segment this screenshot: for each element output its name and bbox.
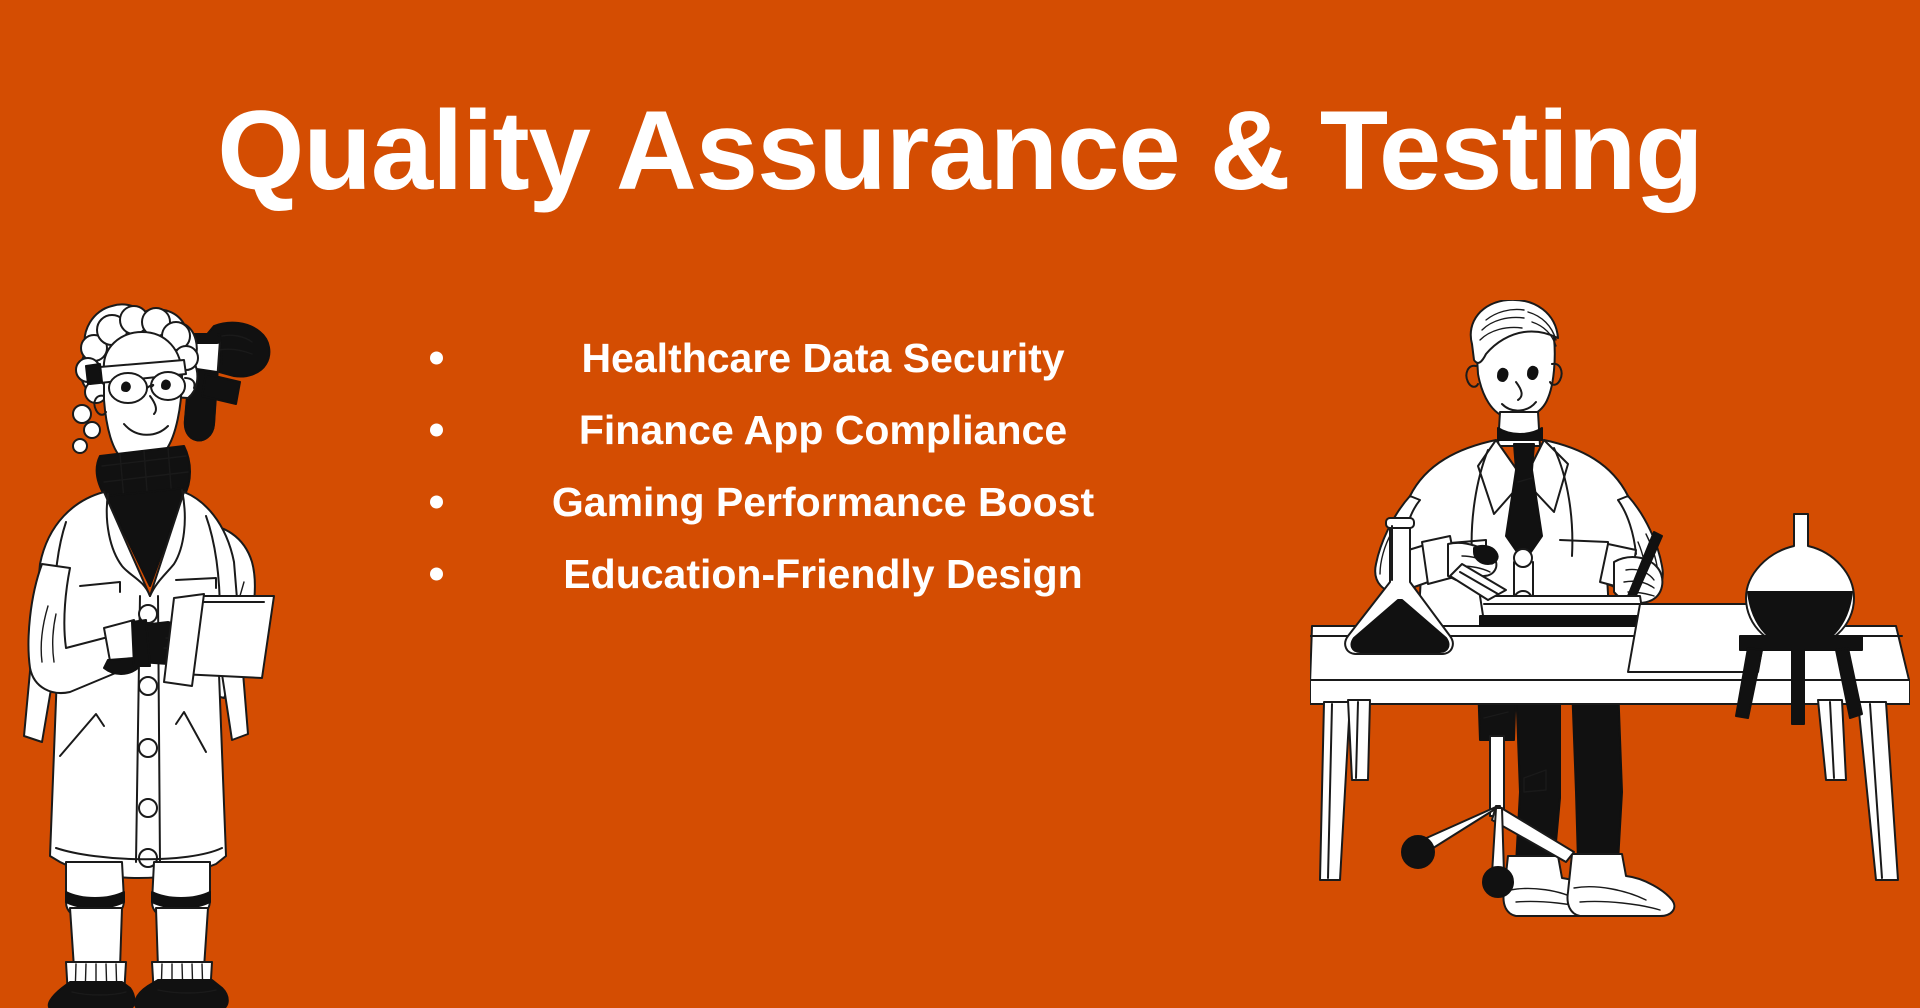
scientist-at-lab-desk-illustration xyxy=(1310,300,1910,1008)
list-item-label: Education-Friendly Design xyxy=(430,551,1190,598)
list-item-label: Gaming Performance Boost xyxy=(430,479,1190,526)
list-item: Healthcare Data Security xyxy=(430,322,1190,394)
page-title: Quality Assurance & Testing xyxy=(0,92,1920,210)
bullet-list: Healthcare Data Security Finance App Com… xyxy=(430,322,1190,610)
list-item-label: Healthcare Data Security xyxy=(430,335,1190,382)
list-item-label: Finance App Compliance xyxy=(430,407,1190,454)
bullet-dot-icon xyxy=(430,496,443,509)
bullet-dot-icon xyxy=(430,568,443,581)
list-item: Education-Friendly Design xyxy=(430,538,1190,610)
slide-canvas: Quality Assurance & Testing Healthcare D… xyxy=(0,0,1920,1008)
bullet-dot-icon xyxy=(430,352,443,365)
list-item: Finance App Compliance xyxy=(430,394,1190,466)
bullet-dot-icon xyxy=(430,424,443,437)
list-item: Gaming Performance Boost xyxy=(430,466,1190,538)
scientist-holding-test-tube-illustration xyxy=(8,296,318,1008)
